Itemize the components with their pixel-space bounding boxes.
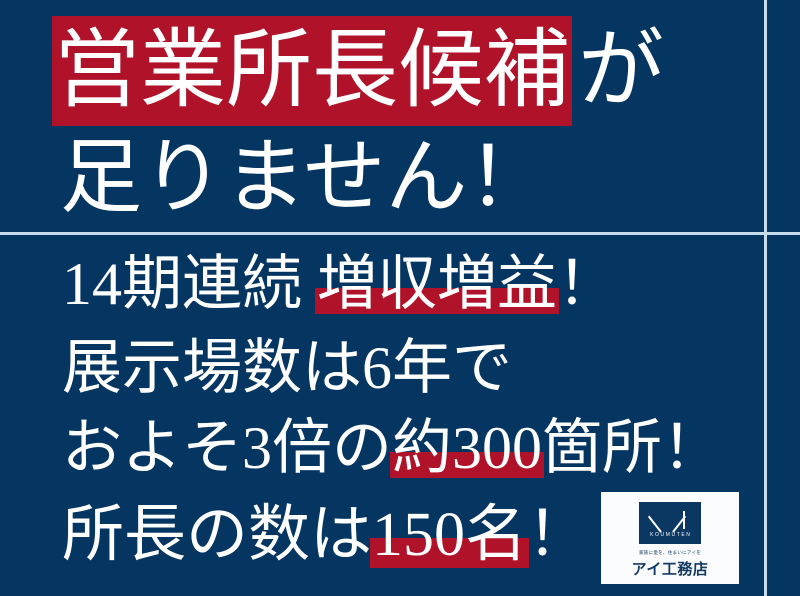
vertical-frame-rule xyxy=(764,0,767,596)
stat-showrooms-highlight: 約300 xyxy=(392,412,542,484)
company-logo: KOUMUTEN 家族に愛を、住まいにアイを アイ工務店 xyxy=(601,492,739,584)
stat-growth-highlight: 増収増益 xyxy=(317,248,557,320)
stat-growth-prefix: 14期連続 xyxy=(62,251,302,317)
stat-showrooms-suffix: 箇所！ xyxy=(542,415,722,481)
headline-secondary-line: 足りません！ xyxy=(60,130,550,226)
logo-company-name: アイ工務店 xyxy=(632,558,709,579)
stat-managers-highlight-text: 150名 xyxy=(372,501,527,569)
horizontal-divider-rule xyxy=(0,232,800,235)
logo-monogram xyxy=(656,507,685,529)
logo-tagline: 家族に愛を、住まいにアイを xyxy=(639,550,701,556)
stat-managers-prefix: 所長の数は xyxy=(62,501,372,569)
headline-block: 営業所長候補が 足りません！ xyxy=(0,0,764,232)
poster-canvas: 営業所長候補が 足りません！ 14期連続 増収増益！ 展示場数は6年で およそ3… xyxy=(0,0,800,596)
headline-highlight-text: 営業所長候補 xyxy=(52,16,572,126)
stat-growth-suffix: ！ xyxy=(557,251,617,317)
stat-line-growth: 14期連続 増収増益！ xyxy=(62,248,617,320)
roof-icon xyxy=(656,512,678,529)
logo-mark-icon: KOUMUTEN xyxy=(639,502,701,544)
stat-showrooms-highlight-text: 約300 xyxy=(392,415,542,481)
stat-managers-highlight: 150名 xyxy=(372,498,527,572)
headline-primary-line: 営業所長候補が xyxy=(52,18,664,122)
stat-line-showrooms-count: およそ3倍の約300箇所！ xyxy=(62,412,722,484)
stat-growth-highlight-text: 増収増益 xyxy=(317,251,557,317)
stat-managers-suffix: ！ xyxy=(527,501,589,569)
stat-line-showrooms-intro: 展示場数は6年で xyxy=(62,332,512,404)
headline-particle-text: が xyxy=(572,22,664,118)
logo-mark-subtext: KOUMUTEN xyxy=(648,532,691,538)
stat-showrooms-prefix: およそ3倍の xyxy=(62,415,392,481)
stat-line-managers-count: 所長の数は150名！ xyxy=(62,498,589,572)
